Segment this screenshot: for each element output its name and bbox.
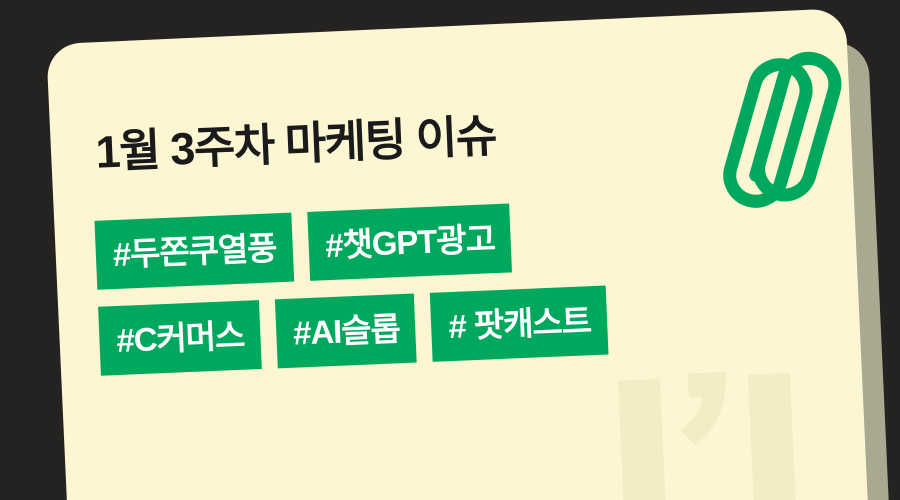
page-title: 1월 3주차 마케팅 이슈: [95, 110, 497, 178]
hashtag-chip-podcast[interactable]: # 팟캐스트: [430, 286, 608, 362]
hashtag-chip-dujjonku-yeolpung[interactable]: #두쫀쿠열풍: [94, 213, 293, 290]
hashtag-list: #두쫀쿠열풍 #챗GPT광고 #C커머스 #AI슬롭 # 팟캐스트: [94, 200, 608, 393]
hashtag-row-1: #두쫀쿠열풍 #챗GPT광고: [94, 200, 604, 290]
hashtag-chip-ai-slop[interactable]: #AI슬롭: [275, 294, 417, 369]
hashtag-chip-chatgpt-ad[interactable]: #챗GPT광고: [307, 203, 512, 280]
hashtag-row-2: #C커머스 #AI슬롭 # 팟캐스트: [98, 286, 608, 376]
card-content: 1월 3주차 마케팅 이슈 #두쫀쿠열풍 #챗GPT광고 #C커머스 #AI슬롭…: [0, 0, 900, 500]
marketing-issue-card-canvas: 1월 3주차 마케팅 이슈 #두쫀쿠열풍 #챗GPT광고 #C커머스 #AI슬롭…: [0, 0, 900, 500]
hashtag-chip-c-commerce[interactable]: #C커머스: [98, 300, 262, 376]
